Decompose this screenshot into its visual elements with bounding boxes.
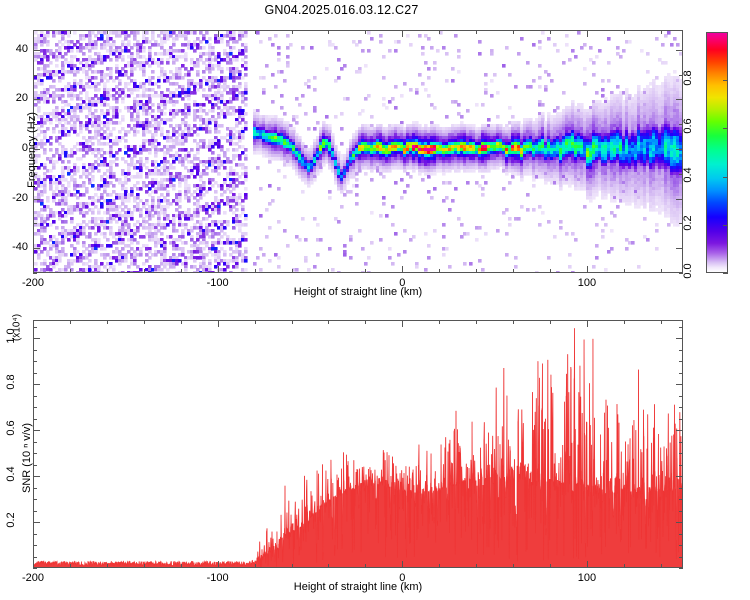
spectrogram-xtick-minor-top: [476, 30, 477, 34]
snr-xtick-minor: [107, 564, 108, 568]
colorbar-tick: [723, 128, 728, 129]
snr-ytick-minor: [33, 373, 37, 374]
spectrogram-xtick-minor: [255, 269, 256, 273]
snr-ytick-right: [676, 476, 683, 477]
spectrogram-xtick-minor: [439, 269, 440, 273]
snr-ytick-minor-right: [679, 557, 683, 558]
spectrogram-xtick-top: [402, 30, 403, 37]
snr-xtick-top: [587, 320, 588, 327]
snr-xtick-minor-top: [292, 320, 293, 324]
spectrogram-xtick-minor: [144, 269, 145, 273]
spectrogram-ytick: [33, 248, 40, 249]
snr-ytick: [33, 384, 40, 385]
spectrogram-xtick: [587, 266, 588, 273]
snr-exponent-label: (x10⁴): [12, 298, 23, 358]
spectrogram-xtick-minor-top: [144, 30, 145, 34]
spectrogram-xtick-minor: [513, 269, 514, 273]
snr-ytick-minor-right: [679, 568, 683, 569]
spectrogram-ytick-label: -20: [0, 192, 28, 204]
spectrogram-xtick-top: [587, 30, 588, 37]
snr-ytick-minor-right: [679, 499, 683, 500]
snr-xtick-minor: [550, 564, 551, 568]
colorbar-tick-label: 0.0: [682, 256, 694, 286]
snr-ylabel: SNR (10 ⁿ v/v): [21, 383, 33, 533]
snr-xtick-minor: [513, 564, 514, 568]
spectrogram-xtick-minor-top: [181, 30, 182, 34]
snr-xtick-minor-top: [70, 320, 71, 324]
spectrogram-xtick: [218, 266, 219, 273]
spectrogram-xtick-minor: [365, 269, 366, 273]
snr-ytick-right: [676, 338, 683, 339]
snr-ytick-label: 0.6: [5, 412, 17, 444]
spectrogram-xtick-minor: [181, 269, 182, 273]
spectrogram-xtick-minor: [550, 269, 551, 273]
snr-xtick-minor-top: [439, 320, 440, 324]
snr-xtick-minor-top: [661, 320, 662, 324]
spectrogram-ytick-right: [676, 199, 683, 200]
colorbar-tick: [723, 273, 728, 274]
spectrogram-xtick-minor: [107, 269, 108, 273]
snr-ytick-minor: [33, 499, 37, 500]
colorbar-tick: [723, 177, 728, 178]
spectrogram-ytick-label: 0: [0, 142, 28, 154]
spectrogram-xlabel: Height of straight line (km): [33, 286, 683, 298]
spectrogram-ytick-label: 20: [0, 92, 28, 104]
spectrogram-xtick-minor-top: [255, 30, 256, 34]
snr-ytick-minor: [33, 465, 37, 466]
snr-ytick-minor: [33, 350, 37, 351]
snr-xtick-minor-top: [513, 320, 514, 324]
spectrogram-xtick-minor-top: [328, 30, 329, 34]
snr-xtick-minor: [365, 564, 366, 568]
snr-ytick-minor-right: [679, 419, 683, 420]
spectrogram-xtick-top: [33, 30, 34, 37]
spectrogram-ytick-minor: [33, 273, 37, 274]
snr-xtick-minor: [328, 564, 329, 568]
spectrogram-ytick-right: [676, 99, 683, 100]
spectrogram-xtick-minor-top: [439, 30, 440, 34]
spectrogram-xtick-minor: [292, 269, 293, 273]
spectrogram-xtick: [33, 266, 34, 273]
snr-ytick-minor: [33, 361, 37, 362]
colorbar-tick-label: 0.4: [682, 160, 694, 190]
snr-xtick: [218, 561, 219, 568]
snr-ytick-minor-right: [679, 396, 683, 397]
spectrogram-xtick-top: [218, 30, 219, 37]
snr-ytick-minor: [33, 488, 37, 489]
snr-ytick-label: 0.8: [5, 366, 17, 398]
spectrogram-xtick-minor: [661, 269, 662, 273]
snr-xtick-minor: [70, 564, 71, 568]
snr-ytick: [33, 338, 40, 339]
figure-canvas: GN04.2025.016.03.12.C27 -200-10001004020…: [0, 0, 750, 600]
snr-ytick-minor-right: [679, 511, 683, 512]
snr-ytick-minor-right: [679, 453, 683, 454]
snr-xlabel: Height of straight line (km): [33, 581, 683, 593]
spectrogram-xtick-minor: [328, 269, 329, 273]
spectrogram-xtick-minor-top: [70, 30, 71, 34]
snr-ytick-right: [676, 522, 683, 523]
snr-ytick-minor: [33, 327, 37, 328]
snr-xtick-minor: [292, 564, 293, 568]
colorbar-tick: [723, 225, 728, 226]
colorbar-tick-label: 0.2: [682, 208, 694, 238]
snr-xtick-minor: [144, 564, 145, 568]
snr-xtick: [402, 561, 403, 568]
snr-ytick-minor-right: [679, 442, 683, 443]
snr-xtick-minor-top: [255, 320, 256, 324]
snr-ytick-label: 0.4: [5, 458, 17, 490]
snr-ytick-label: 0.2: [5, 504, 17, 536]
snr-xtick-minor: [476, 564, 477, 568]
snr-xtick-minor: [181, 564, 182, 568]
spectrogram-xtick-minor-top: [661, 30, 662, 34]
snr-ytick-minor: [33, 442, 37, 443]
spectrogram-image: [34, 31, 683, 273]
snr-trace: [34, 321, 683, 568]
colorbar-tick-label: 0.6: [682, 111, 694, 141]
spectrogram-xtick-minor-top: [550, 30, 551, 34]
snr-ytick-minor-right: [679, 465, 683, 466]
spectrogram-ytick-right: [676, 248, 683, 249]
spectrogram-xtick-minor: [476, 269, 477, 273]
snr-xtick-minor-top: [107, 320, 108, 324]
snr-ytick-minor: [33, 407, 37, 408]
spectrogram-ytick: [33, 50, 40, 51]
snr-xtick: [33, 561, 34, 568]
snr-ytick-minor: [33, 419, 37, 420]
spectrogram-xtick-minor-top: [365, 30, 366, 34]
snr-ytick-minor: [33, 396, 37, 397]
snr-ytick-minor: [33, 545, 37, 546]
snr-ytick-minor-right: [679, 534, 683, 535]
snr-xtick-top: [402, 320, 403, 327]
colorbar-tick-label: 0.8: [682, 63, 694, 93]
snr-ytick-minor-right: [679, 373, 683, 374]
spectrogram-ytick-label: 40: [0, 43, 28, 55]
spectrogram-xtick-minor-top: [292, 30, 293, 34]
snr-ytick-right: [676, 384, 683, 385]
snr-ytick-minor-right: [679, 361, 683, 362]
page-title: GN04.2025.016.03.12.C27: [0, 3, 683, 17]
spectrogram-xtick-minor-top: [624, 30, 625, 34]
snr-ytick-minor: [33, 453, 37, 454]
spectrogram-ytick-right: [676, 50, 683, 51]
spectrogram-xtick-minor: [624, 269, 625, 273]
snr-ytick-minor-right: [679, 488, 683, 489]
snr-ytick-minor-right: [679, 350, 683, 351]
colorbar: [706, 32, 728, 273]
spectrogram-xtick-minor-top: [107, 30, 108, 34]
snr-ytick-right: [676, 430, 683, 431]
spectrogram-ytick-minor: [33, 75, 37, 76]
snr-xtick: [587, 561, 588, 568]
snr-ytick-minor: [33, 568, 37, 569]
spectrogram-xtick-minor-top: [513, 30, 514, 34]
snr-xtick-minor: [439, 564, 440, 568]
snr-ytick: [33, 476, 40, 477]
snr-xtick-minor-top: [328, 320, 329, 324]
snr-ytick-minor-right: [679, 327, 683, 328]
snr-ytick: [33, 522, 40, 523]
snr-xtick-minor-top: [476, 320, 477, 324]
snr-ytick-minor: [33, 511, 37, 512]
snr-xtick-minor-top: [365, 320, 366, 324]
spectrogram-ytick-right: [676, 149, 683, 150]
spectrogram-ytick-minor: [33, 223, 37, 224]
spectrogram-xtick-minor: [70, 269, 71, 273]
snr-xtick-minor: [255, 564, 256, 568]
snr-ytick: [33, 430, 40, 431]
snr-xtick-minor-top: [624, 320, 625, 324]
snr-xtick-minor: [661, 564, 662, 568]
spectrogram-xtick: [402, 266, 403, 273]
snr-ytick-minor: [33, 557, 37, 558]
spectrogram-plot-area: [33, 30, 683, 273]
snr-xtick-top: [218, 320, 219, 327]
colorbar-tick: [723, 80, 728, 81]
snr-xtick-minor: [624, 564, 625, 568]
spectrogram-ylabel: Frequency (Hz): [26, 80, 38, 220]
snr-ytick-minor: [33, 534, 37, 535]
spectrogram-ytick-label: -40: [0, 241, 28, 253]
snr-xtick-minor-top: [181, 320, 182, 324]
snr-xtick-minor-top: [144, 320, 145, 324]
snr-ytick-minor-right: [679, 545, 683, 546]
snr-xtick-minor-top: [550, 320, 551, 324]
snr-ytick-minor-right: [679, 407, 683, 408]
snr-plot-area: [33, 320, 683, 568]
